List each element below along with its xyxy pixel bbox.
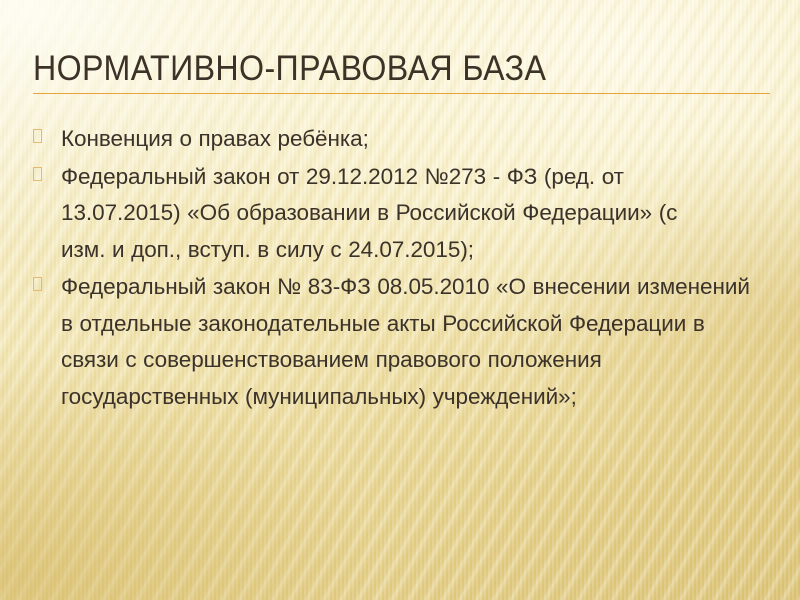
bullet-item-3: Федеральный закон № 83-ФЗ 08.05.2010 «О … — [33, 269, 763, 415]
presentation-slide: НОРМАТИВНО-ПРАВОВАЯ БАЗА Конвенция о пра… — [0, 0, 800, 600]
slide-body-bullet-list: Конвенция о правах ребёнка; Федеральный … — [33, 121, 763, 416]
bullet-marker-icon — [33, 159, 61, 181]
title-divider-rule — [33, 93, 770, 94]
tofu-box-icon — [33, 277, 42, 291]
bullet-item-1: Конвенция о правах ребёнка; — [33, 121, 763, 158]
slide-title: НОРМАТИВНО-ПРАВОВАЯ БАЗА — [33, 49, 711, 89]
bullet-item-2-text: Федеральный закон от 29.12.2012 №273 - Ф… — [61, 159, 701, 269]
bullet-item-3-text: Федеральный закон № 83-ФЗ 08.05.2010 «О … — [61, 269, 761, 415]
bullet-marker-icon — [33, 269, 61, 291]
tofu-box-icon — [33, 167, 42, 181]
bullet-marker-icon — [33, 121, 61, 143]
slide-title-block: НОРМАТИВНО-ПРАВОВАЯ БАЗА — [33, 49, 770, 94]
bullet-item-2: Федеральный закон от 29.12.2012 №273 - Ф… — [33, 159, 763, 269]
bullet-item-1-text: Конвенция о правах ребёнка; — [61, 121, 701, 158]
tofu-box-icon — [33, 129, 42, 143]
